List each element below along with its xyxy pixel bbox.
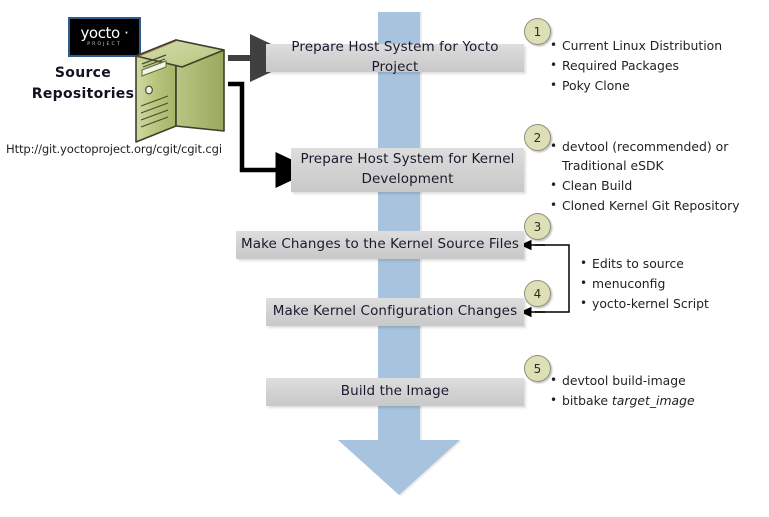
notes-list-step-5: devtool build-imagebitbake target_image — [548, 372, 763, 411]
yocto-logo-subtitle: PROJECT — [87, 43, 122, 48]
notes-list-step-1: Current Linux DistributionRequired Packa… — [548, 37, 763, 96]
process-box-make-source-changes[interactable]: Make Changes to the Kernel Source Files — [236, 231, 524, 259]
note-item: Required Packages — [562, 57, 763, 76]
notes-step-5: devtool build-imagebitbake target_image — [548, 372, 763, 412]
step-badge-4: 4 — [524, 280, 551, 307]
note-item: menuconfig — [592, 275, 763, 294]
note-item: Current Linux Distribution — [562, 37, 763, 56]
notes-step-1: Current Linux DistributionRequired Packa… — [548, 37, 763, 97]
note-item: Poky Clone — [562, 77, 763, 96]
source-repositories-label: Source Repositories — [22, 63, 144, 105]
note-item: Cloned Kernel Git Repository — [562, 197, 766, 216]
notes-step-2: devtool (recommended) or Traditional eSD… — [548, 138, 766, 216]
note-item: Clean Build — [562, 177, 766, 196]
step-badge-5: 5 — [524, 355, 551, 382]
note-item: devtool (recommended) or Traditional eSD… — [562, 138, 766, 176]
step-badge-2: 2 — [524, 124, 551, 151]
yocto-logo-wordmark: yocto · — [80, 26, 128, 41]
note-item: yocto-kernel Script — [592, 295, 763, 314]
workflow-diagram: yocto · PROJECT Source Repositories Http… — [0, 0, 769, 517]
notes-list-step-2: devtool (recommended) or Traditional eSD… — [548, 138, 766, 215]
process-box-make-config-changes[interactable]: Make Kernel Configuration Changes — [266, 298, 524, 326]
process-box-prepare-host-yocto[interactable]: Prepare Host System for Yocto Project — [266, 44, 524, 72]
process-box-prepare-host-kernel[interactable]: Prepare Host System for Kernel Developme… — [291, 148, 524, 192]
note-item: bitbake target_image — [562, 392, 763, 411]
notes-step-3-4: Edits to sourcemenuconfigyocto-kernel Sc… — [578, 255, 763, 315]
step-badge-3: 3 — [524, 213, 551, 240]
main-flow-arrow-head — [338, 440, 460, 495]
notes-list-step-3-4: Edits to sourcemenuconfigyocto-kernel Sc… — [578, 255, 763, 314]
process-box-build-image[interactable]: Build the Image — [266, 378, 524, 406]
yocto-project-logo: yocto · PROJECT — [68, 17, 141, 57]
note-item: Edits to source — [592, 255, 763, 274]
step-badge-1: 1 — [524, 18, 551, 45]
server-tower-icon — [132, 34, 228, 149]
note-item: devtool build-image — [562, 372, 763, 391]
